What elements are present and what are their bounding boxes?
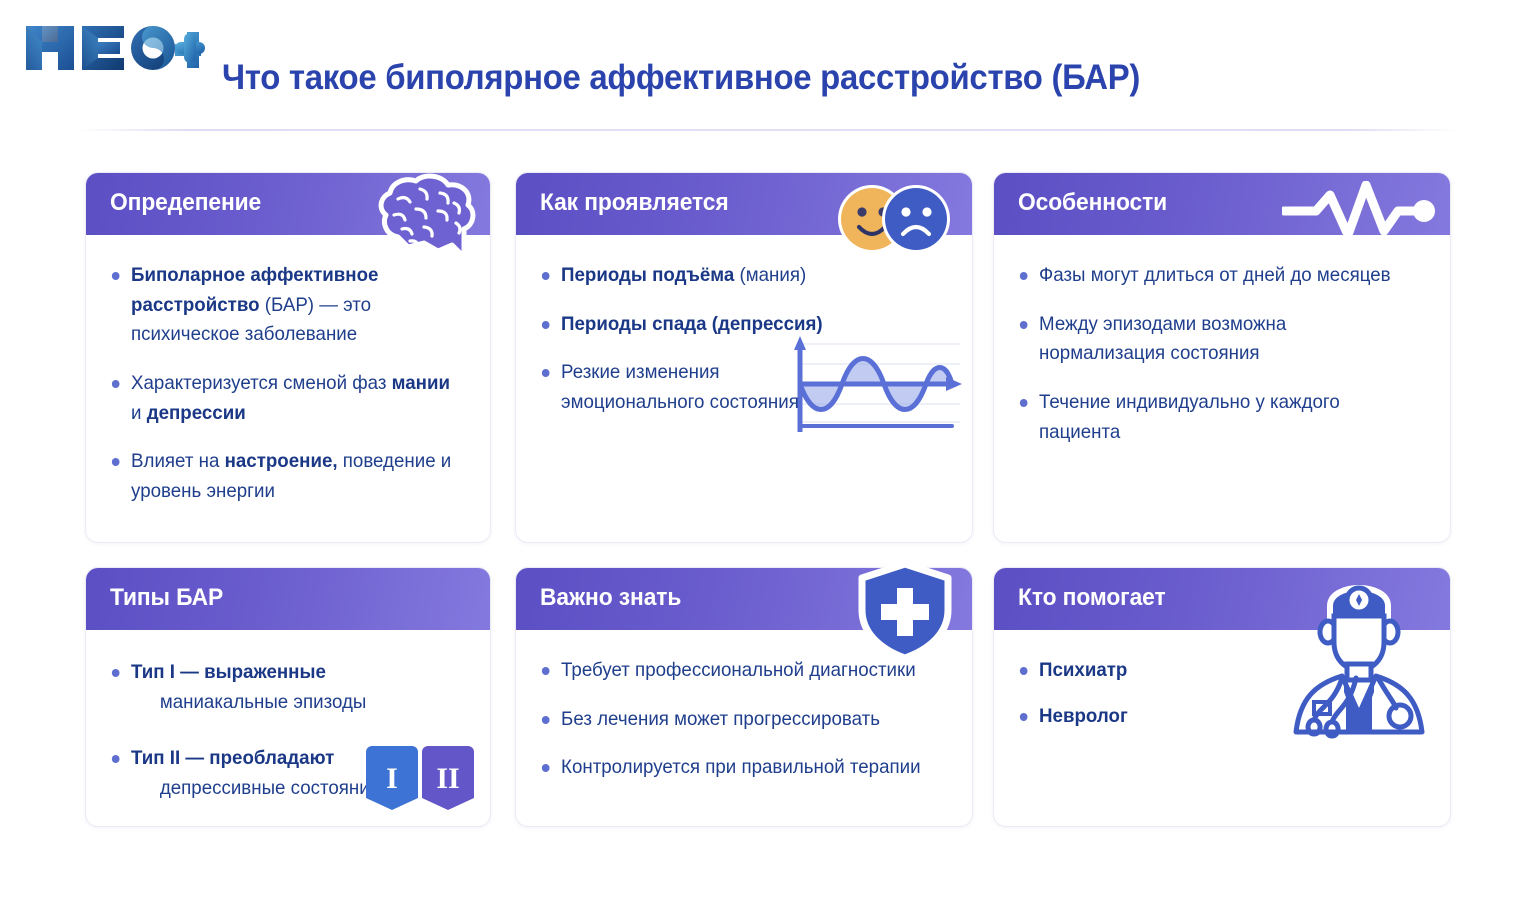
card-title: Кто помогает bbox=[1018, 584, 1166, 612]
card-header-who-helps: Кто помогает bbox=[994, 568, 1450, 630]
page-title: Что такое биполярное аффективное расстро… bbox=[222, 58, 1140, 98]
card-types: Типы БАР Тип I — выраженныеманиакальные … bbox=[85, 567, 491, 827]
list-item: Течение индивидуально у каждого пациента bbox=[1016, 388, 1412, 447]
list-item: Без лечения может прогрессировать bbox=[538, 705, 934, 735]
list-item: Фазы могут длиться от дней до месяцев bbox=[1016, 261, 1412, 291]
mood-wave-chart bbox=[774, 332, 964, 432]
card-body-types: Тип I — выраженныеманиакальные эпизоды Т… bbox=[86, 630, 490, 822]
card-header-manifestation: Как проявляется bbox=[516, 173, 972, 235]
page-header: Что такое биполярное аффективное расстро… bbox=[0, 0, 1536, 132]
list-item: Периоды подъёма (мания) bbox=[538, 261, 826, 291]
card-body-definition: Биполарное аффективное расстройство (БАР… bbox=[86, 235, 490, 524]
roman-numeral-badges-icon: I II bbox=[364, 746, 476, 812]
svg-text:I: I bbox=[386, 762, 398, 795]
list-item: Требует профессиональной диагностики bbox=[538, 656, 934, 686]
bullet-list: Тип I — выраженныеманиакальные эпизоды Т… bbox=[108, 658, 408, 804]
list-item: Контролируется при правильной терапии bbox=[538, 753, 934, 783]
bullet-list: Требует профессиональной диагностики Без… bbox=[538, 656, 950, 783]
list-item: Невролог bbox=[1016, 702, 1266, 732]
card-body-manifestation: Периоды подъёма (мания) Периоды спада (д… bbox=[516, 235, 972, 436]
list-item: Влияет на настроение, поведение и уровен… bbox=[108, 447, 454, 506]
card-header-types: Типы БАР bbox=[86, 568, 490, 630]
svg-text:II: II bbox=[436, 762, 459, 795]
card-important: Важно знать Требует профессиональной диа… bbox=[515, 567, 973, 827]
list-item: Характеризуется сменой фаз мании и депре… bbox=[108, 369, 454, 428]
card-title: Опредепение bbox=[110, 189, 261, 217]
list-item: Между эпизодами возможна нормализация со… bbox=[1016, 310, 1412, 369]
list-item: Психиатр bbox=[1016, 656, 1266, 686]
header-divider bbox=[78, 129, 1458, 131]
card-title: Важно знать bbox=[540, 584, 681, 612]
card-definition: Опредепение bbox=[85, 172, 491, 543]
neo-plus-logo bbox=[20, 18, 205, 76]
card-title: Типы БАР bbox=[110, 584, 223, 612]
card-features: Особенности Фазы могут длиться от дней д… bbox=[993, 172, 1451, 543]
card-title: Как проявляется bbox=[540, 189, 729, 217]
card-header-features: Особенности bbox=[994, 173, 1450, 235]
card-who-helps: Кто помогает bbox=[993, 567, 1451, 827]
card-body-features: Фазы могут длиться от дней до месяцев Ме… bbox=[994, 235, 1450, 465]
card-header-important: Важно знать bbox=[516, 568, 972, 630]
card-manifestation: Как проявляется Периоды подъёма ( bbox=[515, 172, 973, 543]
card-body-important: Требует профессиональной диагностики Без… bbox=[516, 630, 972, 801]
list-item: Тип I — выраженныеманиакальные эпизоды bbox=[108, 658, 396, 717]
card-body-who-helps: Психиатр Невролог bbox=[994, 630, 1450, 749]
bullet-list: Биполарное аффективное расстройство (БАР… bbox=[108, 261, 468, 506]
bullet-list: Фазы могут длиться от дней до месяцев Ме… bbox=[1016, 261, 1428, 447]
list-item: Тип II — преобладаютдепрессивные состоян… bbox=[108, 744, 396, 803]
bullet-list: Психиатр Невролог bbox=[1016, 656, 1276, 731]
list-item: Биполарное аффективное расстройство (БАР… bbox=[108, 261, 454, 350]
card-header-definition: Опредепение bbox=[86, 173, 490, 235]
card-title: Особенности bbox=[1018, 189, 1167, 217]
